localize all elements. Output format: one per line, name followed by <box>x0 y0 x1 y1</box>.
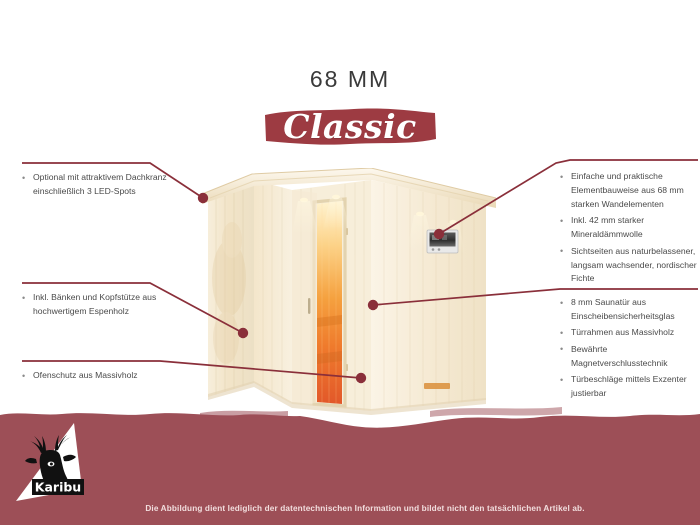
annotation-item: Inkl. 42 mm starker Mineraldämmwolle <box>560 214 700 242</box>
annotation-item: Türrahmen aus Massivholz <box>560 326 700 340</box>
annotation-benches: Inkl. Bänken und Kopfstütze aus hochwert… <box>22 291 197 321</box>
annotation-item: Sichtseiten aus naturbelassener, langsam… <box>560 245 700 287</box>
annotation-item: Ofenschutz aus Massivholz <box>22 369 197 383</box>
annotation-roof-crown: Optional mit attraktivem Dachkranz einsc… <box>22 171 197 201</box>
annotation-item: Optional mit attraktivem Dachkranz einsc… <box>22 171 197 199</box>
brand-logo: Karibu <box>14 417 106 505</box>
annotation-item: Einfache und praktische Elementbauweise … <box>560 170 700 212</box>
leader-dots <box>198 193 444 383</box>
annotation-door: 8 mm Saunatür aus Einscheibensicherheits… <box>560 296 700 403</box>
annotation-item: Inkl. Bänken und Kopfstütze aus hochwert… <box>22 291 197 319</box>
disclaimer-text: Die Abbildung dient lediglich der datent… <box>0 504 700 513</box>
annotation-heater-guard: Ofenschutz aus Massivholz <box>22 369 197 385</box>
poster-canvas: 68 MM Classic <box>0 0 700 525</box>
annotation-item: 8 mm Saunatür aus Einscheibensicherheits… <box>560 296 700 324</box>
brand-wordmark: Karibu <box>35 480 81 495</box>
annotation-item: Bewährte Magnetverschlusstechnik <box>560 343 700 371</box>
annotation-wall-elements: Einfache und praktische Elementbauweise … <box>560 170 700 289</box>
